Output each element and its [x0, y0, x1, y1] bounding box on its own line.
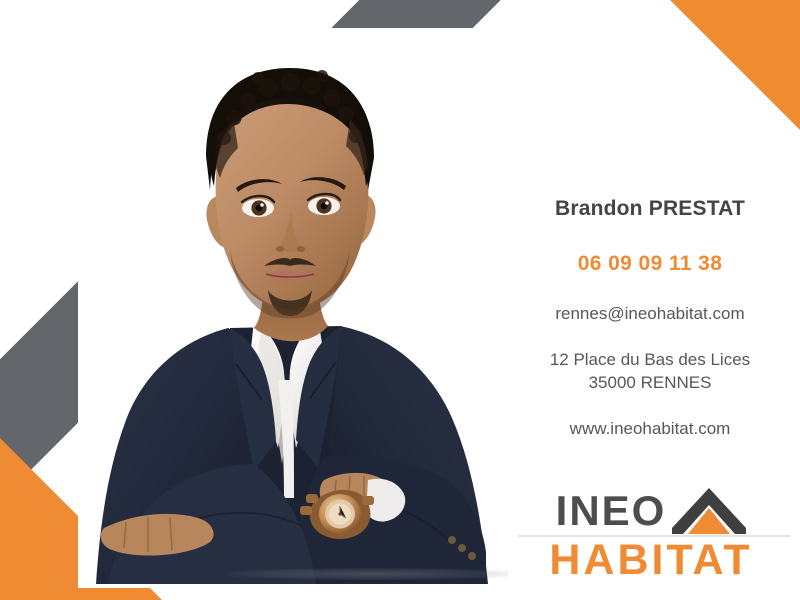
contact-phone[interactable]: 06 09 09 11 38 [500, 251, 800, 276]
address-line-2: 35000 RENNES [500, 372, 800, 395]
address-line-1: 12 Place du Bas des Lices [500, 349, 800, 372]
logo-top-row: INEO [512, 486, 790, 536]
contact-address: 12 Place du Bas des Lices 35000 RENNES [500, 349, 800, 395]
business-card: Brandon PRESTAT 06 09 09 11 38 rennes@in… [0, 0, 800, 600]
contact-details: Brandon PRESTAT 06 09 09 11 38 rennes@in… [500, 196, 800, 439]
company-logo: INEO HABITAT [512, 486, 790, 590]
logo-wordmark-ineo: INEO [556, 490, 667, 532]
portrait-photo [78, 28, 508, 588]
portrait-photo-container [78, 28, 508, 588]
orange-corner-wedge-top-right [670, 0, 800, 130]
contact-name: Brandon PRESTAT [500, 196, 800, 221]
logo-wordmark-habitat: HABITAT [512, 538, 790, 583]
contact-website[interactable]: www.ineohabitat.com [500, 419, 800, 439]
contact-email[interactable]: rennes@ineohabitat.com [500, 304, 800, 324]
house-roof-chevron-icon [672, 488, 746, 534]
